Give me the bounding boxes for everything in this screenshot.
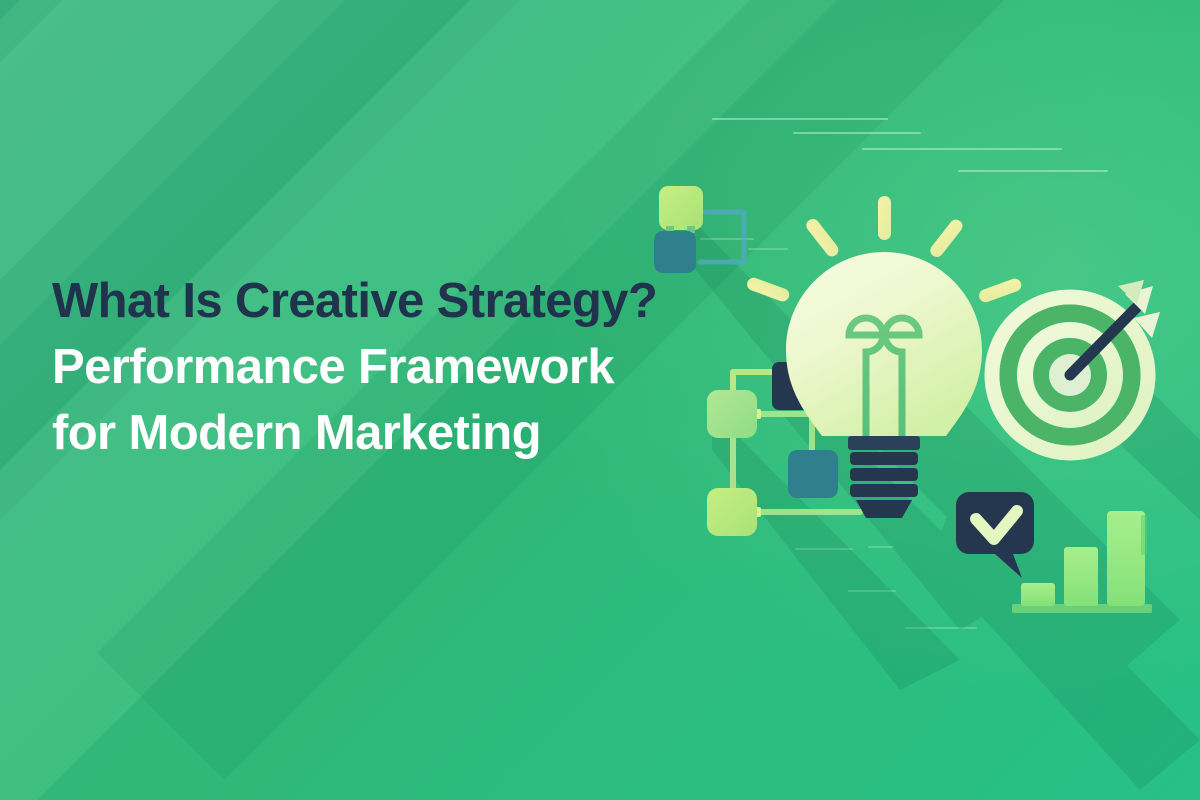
node-light-green-upper	[659, 186, 703, 230]
bar-3	[1107, 511, 1145, 606]
headline-line-1: What Is Creative Strategy?	[52, 268, 812, 334]
ray-upper-right	[928, 217, 965, 260]
node-teal-upper	[654, 231, 696, 273]
hero-banner: What Is Creative Strategy? Performance F…	[0, 0, 1200, 800]
bulb-neck	[848, 436, 920, 450]
headline-line-3: for Modern Marketing	[52, 400, 812, 466]
target-with-arrow	[992, 280, 1160, 453]
bar-1	[1021, 583, 1055, 606]
page-title: What Is Creative Strategy? Performance F…	[52, 268, 812, 466]
ray-right	[977, 277, 1023, 304]
ray-top	[878, 196, 891, 240]
bar-2	[1064, 547, 1098, 606]
node-light-green-lower	[707, 488, 757, 536]
headline-line-2: Performance Framework	[52, 334, 812, 400]
ray-upper-left	[804, 216, 841, 259]
